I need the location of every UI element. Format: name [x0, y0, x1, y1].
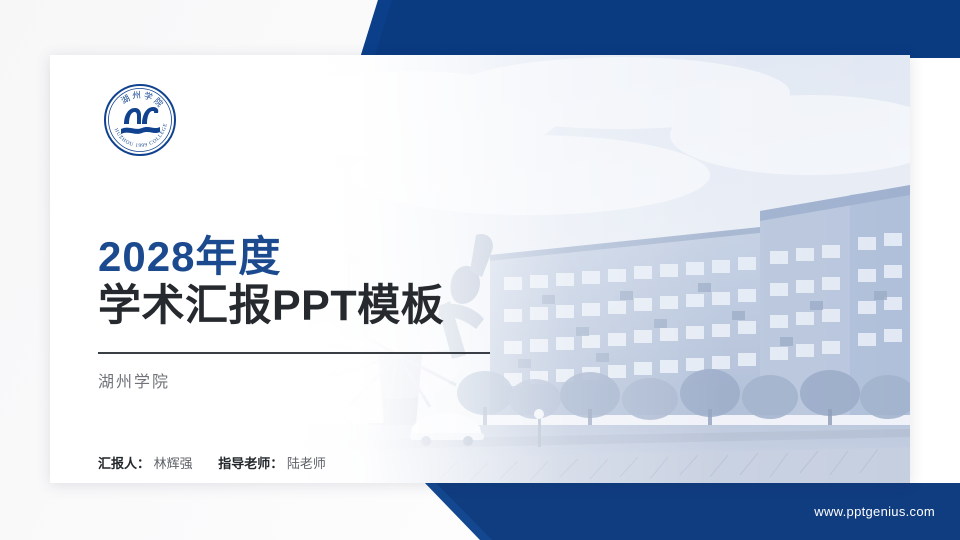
credits-line: 汇报人： 林辉强 指导老师： 陆老师: [98, 453, 348, 472]
advisor-label: 指导老师：: [218, 456, 283, 471]
subtitle-organization: 湖州学院: [98, 368, 490, 392]
top-blue-banner: [0, 0, 960, 58]
title-year: 2028年度: [98, 235, 490, 279]
page-title: 学术汇报PPT模板: [98, 283, 490, 330]
presentation-slide: 湖州学院 HUZHOU 1999 COLLEGE 2028年度 学术汇报PPT模…: [0, 0, 960, 540]
title-divider: [98, 352, 490, 354]
huzhou-college-seal-icon: 湖州学院 HUZHOU 1999 COLLEGE: [102, 82, 178, 158]
advisor-name: 陆老师: [287, 456, 326, 471]
footer-website-url[interactable]: www.pptgenius.com: [814, 504, 935, 519]
slide-content-card: 湖州学院 HUZHOU 1999 COLLEGE 2028年度 学术汇报PPT模…: [50, 55, 910, 483]
advisor-group: 指导老师： 陆老师: [218, 456, 326, 471]
seal-svg: 湖州学院 HUZHOU 1999 COLLEGE: [102, 82, 178, 158]
presenter-label: 汇报人：: [98, 456, 150, 471]
presenter-group: 汇报人： 林辉强: [98, 456, 196, 471]
title-block: 2028年度 学术汇报PPT模板 湖州学院: [98, 235, 490, 392]
presenter-name: 林辉强: [154, 456, 193, 471]
